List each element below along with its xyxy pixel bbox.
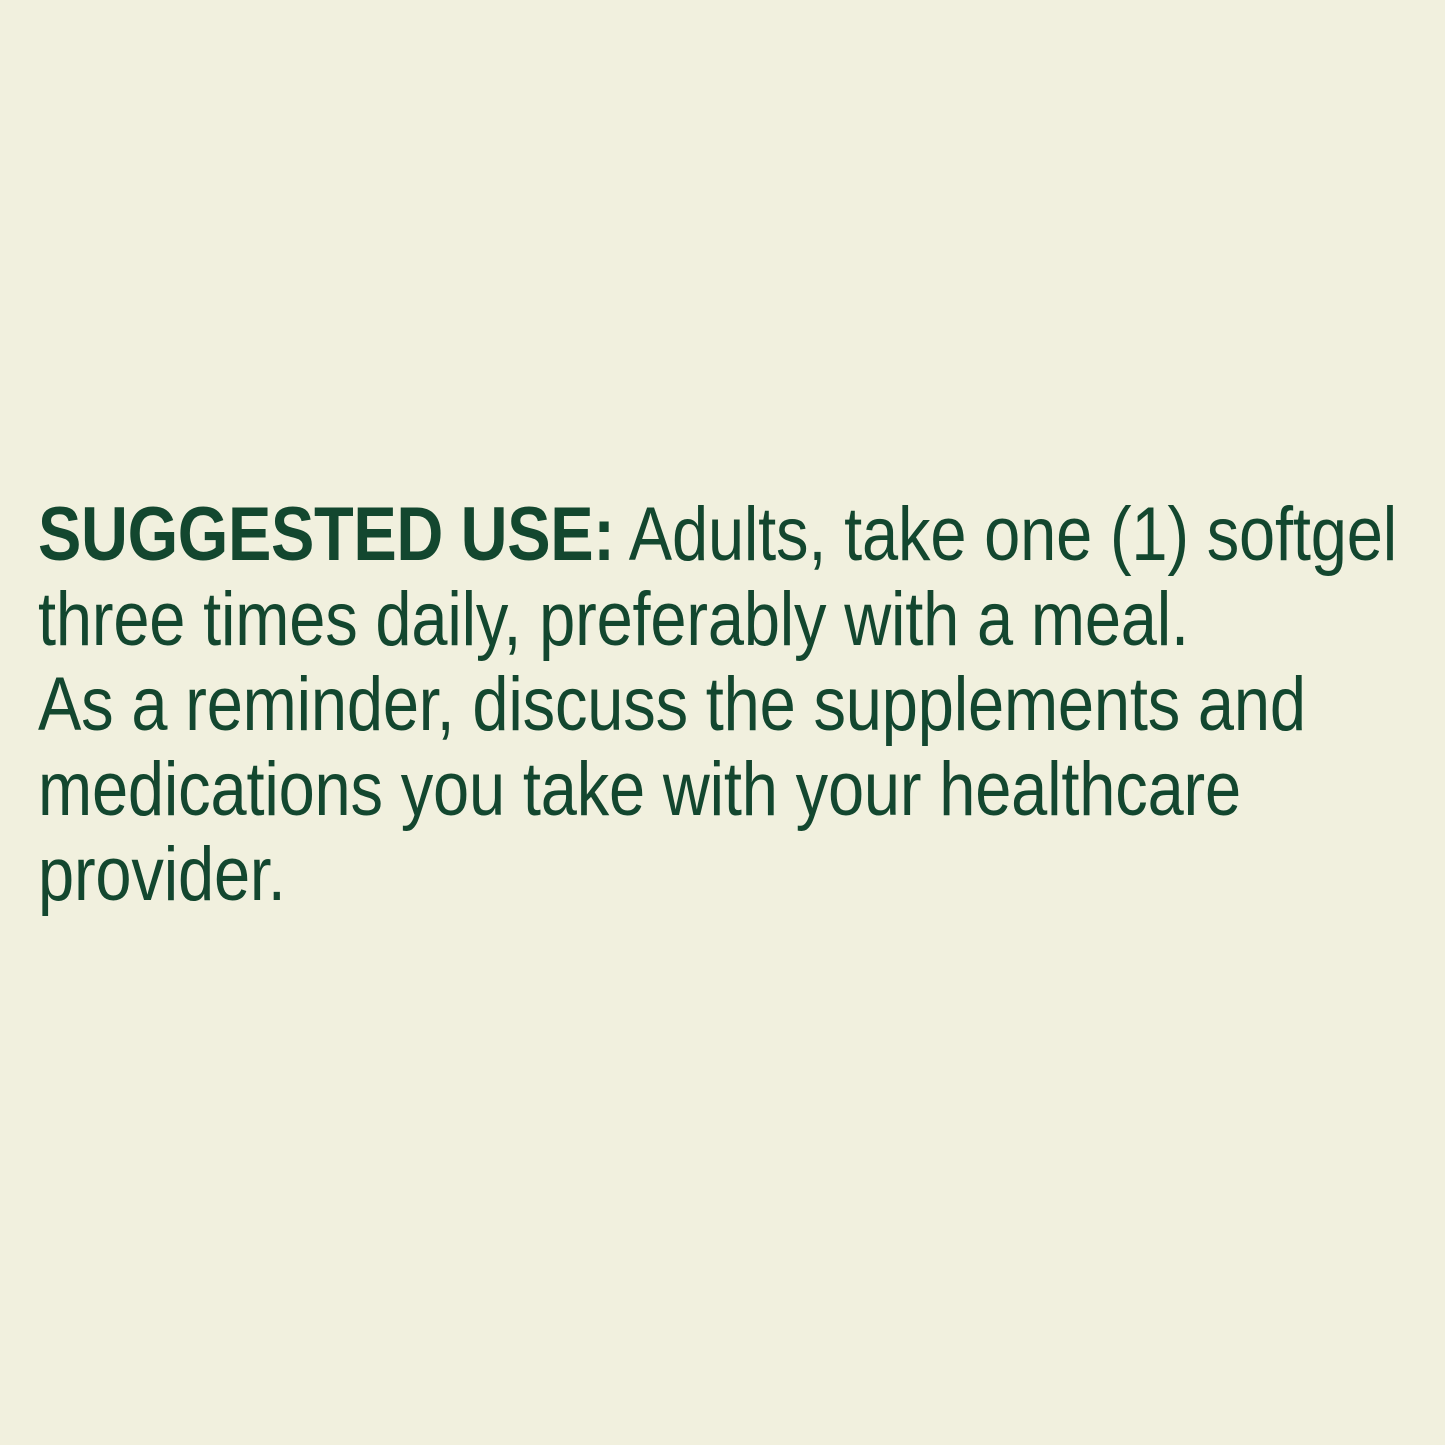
suggested-use-line-4: medications you take with your healthcar… <box>38 747 1430 832</box>
suggested-use-line-1: SUGGESTED USE: Adults, take one (1) soft… <box>38 492 1430 577</box>
label-panel: SUGGESTED USE: Adults, take one (1) soft… <box>0 0 1445 1445</box>
suggested-use-line-2: three times daily, preferably with a mea… <box>38 577 1430 662</box>
suggested-use-line-3: As a reminder, discuss the supplements a… <box>38 662 1430 747</box>
suggested-use-line-1-text: Adults, take one (1) softgel <box>615 492 1397 577</box>
suggested-use-text-block: SUGGESTED USE: Adults, take one (1) soft… <box>38 492 1430 917</box>
suggested-use-heading: SUGGESTED USE: <box>38 492 615 577</box>
suggested-use-line-5: provider. <box>38 832 1430 917</box>
